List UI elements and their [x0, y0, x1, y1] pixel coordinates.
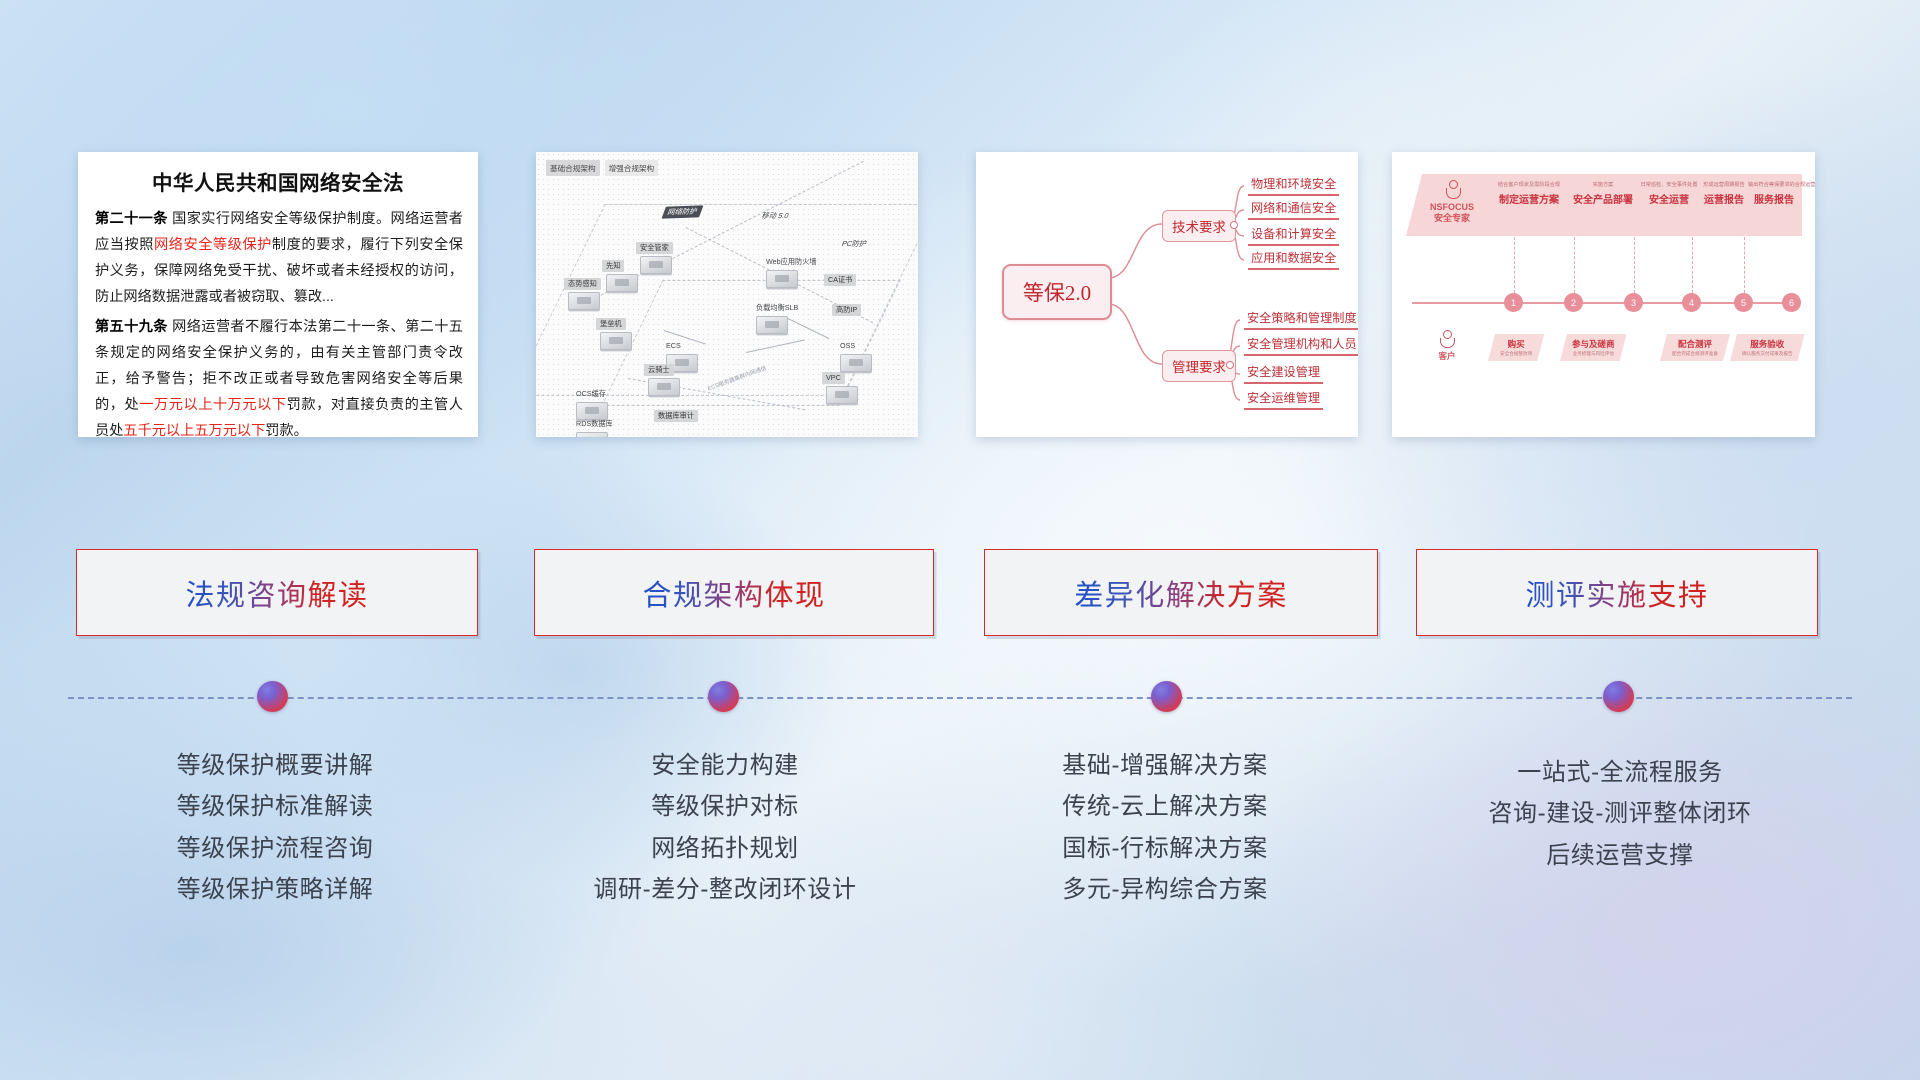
title-box-regulation-consulting[interactable]: 法规咨询解读 [76, 549, 478, 636]
detail-column-2: 安全能力构建 等级保护对标 网络拓扑规划 调研-差分-整改闭环设计 [510, 745, 940, 910]
nsfocus-step-6[interactable]: 6 [1782, 293, 1801, 312]
diagram-node-pc-protection: PC防护 [838, 238, 870, 250]
diagram-cube-icon [606, 274, 638, 292]
nsfocus-customer-action-4: 服务验收 确认服务交付成果及报告 [1730, 334, 1805, 361]
customer-action-4-sub: 确认服务交付成果及报告 [1742, 351, 1793, 357]
mindmap-collapse-toggle-technical[interactable] [1230, 221, 1238, 229]
customer-action-3-main: 配合测评 [1672, 338, 1718, 350]
phase-2-sub: 实施方案 [1568, 182, 1638, 189]
timeline-dashed-line [68, 697, 1852, 699]
phase-1-sub: 结合客户现状及需阶段合规 [1492, 182, 1566, 189]
nsfocus-drop-4 [1692, 237, 1693, 293]
nsfocus-step-5[interactable]: 5 [1734, 293, 1753, 312]
timeline-marker-2[interactable] [708, 681, 739, 712]
mindmap-leaf-construction-mgmt[interactable]: 安全建设管理 [1244, 362, 1323, 384]
customer-person-icon [1439, 330, 1455, 348]
list-item: 等级保护对标 [510, 786, 940, 827]
phase-4-main: 运营报告 [1698, 191, 1750, 206]
diagram-cube-icon [766, 270, 798, 288]
diagram-node-rds: RDS数据库 [572, 418, 617, 437]
diagram-cube-icon [640, 256, 672, 274]
nsfocus-step-2[interactable]: 2 [1564, 293, 1583, 312]
list-item: 安全能力构建 [510, 745, 940, 786]
diagram-node-taishiganzhi: 态势感知 [564, 278, 601, 310]
list-item: 调研-差分-整改闭环设计 [510, 869, 940, 910]
diagram-cube-icon [756, 316, 788, 334]
nsfocus-step-1[interactable]: 1 [1504, 293, 1523, 312]
nsfocus-customer-action-3: 配合测评 配合完成合规测评准备 [1660, 334, 1730, 361]
mindmap-leaf-device-compute[interactable]: 设备和计算安全 [1248, 224, 1339, 246]
card-mind-map: 等保2.0 技术要求 管理要求 物理和环境安全 网络和通信安全 设备和计算安全 … [976, 152, 1358, 437]
title-label: 合规架构体现 [642, 572, 825, 614]
diagram-node-baoleiji: 堡垒机 [596, 318, 632, 350]
diagram-node-wangluofanghu: 网络防护 [664, 206, 701, 218]
nsfocus-drop-2 [1574, 237, 1575, 293]
nsfocus-customer-action-1: 购买 安全合规整改项 [1488, 334, 1544, 361]
nsfocus-drop-3 [1634, 237, 1635, 293]
customer-action-1-main: 购买 [1500, 338, 1532, 350]
article-21-label: 第二十一条 [95, 211, 168, 227]
card-law-text: 中华人民共和国网络安全法 第二十一条 国家实行网络安全等级保护制度。网络运营者应… [78, 152, 478, 437]
article-21-highlight: 网络安全等级保护 [154, 237, 272, 253]
list-item: 咨询-建设-测评整体闭环 [1395, 793, 1845, 834]
mindmap-branch-management[interactable]: 管理要求 [1162, 350, 1236, 382]
customer-label: 客户 [1418, 350, 1476, 362]
mindmap-collapse-toggle-management[interactable] [1226, 361, 1234, 369]
nsfocus-drop-1 [1514, 237, 1515, 293]
customer-action-1-sub: 安全合规整改项 [1500, 351, 1532, 357]
diagram-node-oss: OSS [836, 340, 872, 372]
mindmap-canvas: 等保2.0 技术要求 管理要求 物理和环境安全 网络和通信安全 设备和计算安全 … [976, 152, 1358, 437]
list-item: 传统-云上解决方案 [950, 786, 1380, 827]
list-item: 基础-增强解决方案 [950, 745, 1380, 786]
timeline-marker-4[interactable] [1603, 681, 1634, 712]
nsfocus-drop-5 [1744, 237, 1745, 293]
timeline-marker-1[interactable] [257, 681, 288, 712]
mindmap-branch-technical[interactable]: 技术要求 [1162, 210, 1236, 242]
nsfocus-step-3[interactable]: 3 [1624, 293, 1643, 312]
nsfocus-canvas: NSFOCUS 安全专家 结合客户现状及需阶段合规 制定运营方案 实施方案 安全… [1392, 152, 1815, 437]
diagram-node-vpc: VPC [822, 372, 858, 404]
mindmap-root-node[interactable]: 等保2.0 [1002, 264, 1112, 320]
detail-column-4: 一站式-全流程服务 咨询-建设-测评整体闭环 后续运营支撑 [1395, 752, 1845, 876]
phase-4-sub: 形成运营周期报告 [1698, 182, 1750, 189]
timeline-marker-3[interactable] [1151, 681, 1182, 712]
diagram-cube-icon [568, 292, 600, 310]
title-label: 测评实施支持 [1525, 572, 1708, 614]
title-label: 差异化解决方案 [1074, 572, 1288, 614]
nsfocus-expert-block: NSFOCUS 安全专家 [1420, 180, 1484, 225]
architecture-tabs: 基础合规架构 增强合规架构 [546, 160, 658, 176]
diagram-node-yunqishi: 云骑士 [644, 364, 680, 396]
title-label: 法规咨询解读 [185, 572, 368, 614]
mindmap-leaf-policy-system[interactable]: 安全策略和管理制度 [1244, 308, 1358, 330]
nsfocus-customer-block: 客户 [1418, 330, 1476, 362]
diagram-cube-icon [840, 354, 872, 372]
card-architecture-diagram: 基础合规架构 增强合规架构 网络防护 安全管家 先知 [536, 152, 918, 437]
diagram-node-ocs-cache: OCS缓存 [572, 388, 610, 420]
tab-basic-architecture[interactable]: 基础合规架构 [546, 160, 600, 176]
customer-action-3-sub: 配合完成合规测评准备 [1672, 351, 1718, 357]
tab-enhanced-architecture[interactable]: 增强合规架构 [605, 160, 659, 176]
list-item: 等级保护流程咨询 [60, 828, 490, 869]
customer-action-4-main: 服务验收 [1742, 338, 1793, 350]
law-article-21: 第二十一条 国家实行网络安全等级保护制度。网络运营者应当按照网络安全等级保护制度… [95, 207, 463, 310]
article-59-highlight-2: 五千元以上五万元以下 [123, 423, 265, 437]
article-59-part3: 罚款。 [265, 423, 308, 437]
mindmap-leaf-org-personnel[interactable]: 安全管理机构和人员 [1244, 334, 1358, 356]
detail-column-1: 等级保护概要讲解 等级保护标准解读 等级保护流程咨询 等级保护策略详解 [60, 745, 490, 910]
list-item: 国标-行标解决方案 [950, 828, 1380, 869]
customer-action-2-main: 参与及磋商 [1572, 338, 1615, 350]
list-item: 网络拓扑规划 [510, 828, 940, 869]
diagram-node-db-audit: 数据库审计 [654, 410, 698, 422]
phase-3-sub: 日常巡检、安全事件处置 [1640, 182, 1698, 189]
phase-1-main: 制定运营方案 [1492, 191, 1566, 206]
article-59-label: 第五十九条 [95, 319, 168, 335]
diagram-node-anti-ddos: 高防IP [832, 304, 861, 316]
nsfocus-phase-4: 形成运营周期报告 运营报告 [1698, 182, 1750, 206]
diagram-node-xianzhi: 先知 [602, 260, 638, 292]
diagram-node-anquanguanjia: 安全管家 [636, 242, 673, 274]
nsfocus-brand-sub: 安全专家 [1420, 213, 1484, 224]
nsfocus-phase-1: 结合客户现状及需阶段合规 制定运营方案 [1492, 182, 1566, 206]
diagram-node-ca-cert: CA证书 [824, 274, 856, 286]
nsfocus-brand: NSFOCUS [1420, 202, 1484, 213]
law-article-59: 第五十九条 网络运营者不履行本法第二十一条、第二十五条规定的网络安全保护义务的，… [95, 315, 463, 437]
diagram-cube-icon [600, 332, 632, 350]
diagram-cube-icon [648, 378, 680, 396]
title-box-differentiated-solutions[interactable]: 差异化解决方案 [984, 549, 1378, 636]
mindmap-leaf-physical-env[interactable]: 物理和环境安全 [1248, 174, 1339, 196]
phase-3-main: 安全运营 [1640, 191, 1698, 206]
nsfocus-customer-action-2: 参与及磋商 业务梳理与风险评估 [1560, 334, 1627, 361]
diagram-node-mobile-50: 移动 5.0 [758, 210, 792, 222]
nsfocus-phase-5: 输出符合等保要求的合规运营服务报告 服务报告 [1748, 182, 1800, 206]
nsfocus-phase-3: 日常巡检、安全事件处置 安全运营 [1640, 182, 1698, 206]
phase-5-sub: 输出符合等保要求的合规运营服务报告 [1748, 182, 1800, 189]
diagram-cube-icon [576, 432, 608, 437]
law-title: 中华人民共和国网络安全法 [78, 166, 478, 196]
list-item: 等级保护标准解读 [60, 786, 490, 827]
list-item: 一站式-全流程服务 [1395, 752, 1845, 793]
title-box-assessment-support[interactable]: 测评实施支持 [1416, 549, 1818, 636]
expert-person-icon [1445, 180, 1460, 200]
phase-2-main: 安全产品部署 [1568, 191, 1638, 206]
article-59-highlight-1: 一万元以上十万元以下 [139, 397, 286, 413]
architecture-canvas: 基础合规架构 增强合规架构 网络防护 安全管家 先知 [536, 152, 918, 437]
title-box-compliance-architecture[interactable]: 合规架构体现 [534, 549, 934, 636]
phase-5-main: 服务报告 [1748, 191, 1800, 206]
law-body: 第二十一条 国家实行网络安全等级保护制度。网络运营者应当按照网络安全等级保护制度… [78, 207, 478, 437]
nsfocus-phase-2: 实施方案 安全产品部署 [1568, 182, 1638, 206]
detail-column-3: 基础-增强解决方案 传统-云上解决方案 国标-行标解决方案 多元-异构综合方案 [950, 745, 1380, 910]
mindmap-leaf-network-comm[interactable]: 网络和通信安全 [1248, 198, 1339, 220]
list-item: 后续运营支撑 [1395, 835, 1845, 876]
mindmap-leaf-ops-mgmt[interactable]: 安全运维管理 [1244, 388, 1323, 410]
list-item: 等级保护策略详解 [60, 869, 490, 910]
card-nsfocus-timeline: NSFOCUS 安全专家 结合客户现状及需阶段合规 制定运营方案 实施方案 安全… [1392, 152, 1815, 437]
diagram-cube-icon [826, 386, 858, 404]
diagram-node-slb: 负载均衡SLB [752, 302, 802, 334]
customer-action-2-sub: 业务梳理与风险评估 [1572, 351, 1615, 357]
mindmap-leaf-app-data[interactable]: 应用和数据安全 [1248, 248, 1339, 270]
list-item: 多元-异构综合方案 [950, 869, 1380, 910]
nsfocus-step-4[interactable]: 4 [1682, 293, 1701, 312]
list-item: 等级保护概要讲解 [60, 745, 490, 786]
diagram-node-waf: Web应用防火墙 [762, 256, 821, 288]
